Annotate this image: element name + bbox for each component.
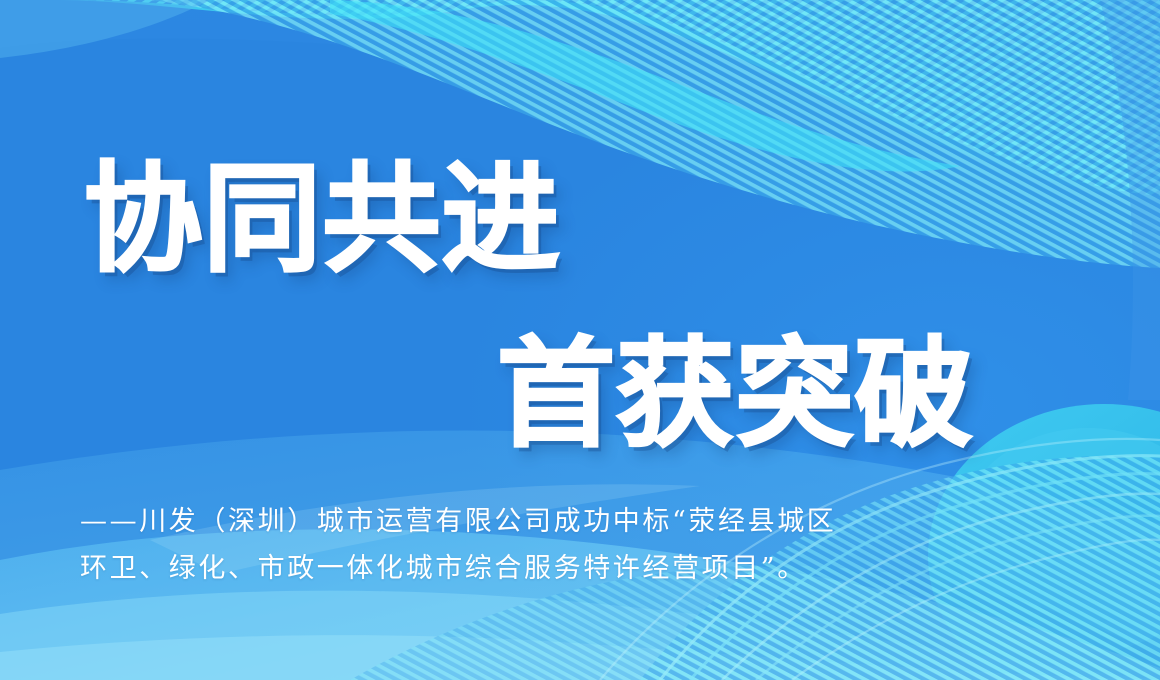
headline-line-1: 协同共进	[84, 160, 561, 278]
subtitle-line-2: 环卫、绿化、市政一体化城市综合服务特许经营项目”。	[80, 545, 1090, 592]
promo-banner: 协同共进 首获突破 ——川发（深圳）城市运营有限公司成功中标“荥经县城区 环卫、…	[0, 0, 1160, 680]
headline-line-2: 首获突破	[497, 335, 974, 453]
banner-content: 协同共进 首获突破 ——川发（深圳）城市运营有限公司成功中标“荥经县城区 环卫、…	[0, 0, 1160, 680]
subtitle: ——川发（深圳）城市运营有限公司成功中标“荥经县城区 环卫、绿化、市政一体化城市…	[80, 498, 1090, 592]
subtitle-line-1: ——川发（深圳）城市运营有限公司成功中标“荥经县城区	[80, 498, 1090, 545]
